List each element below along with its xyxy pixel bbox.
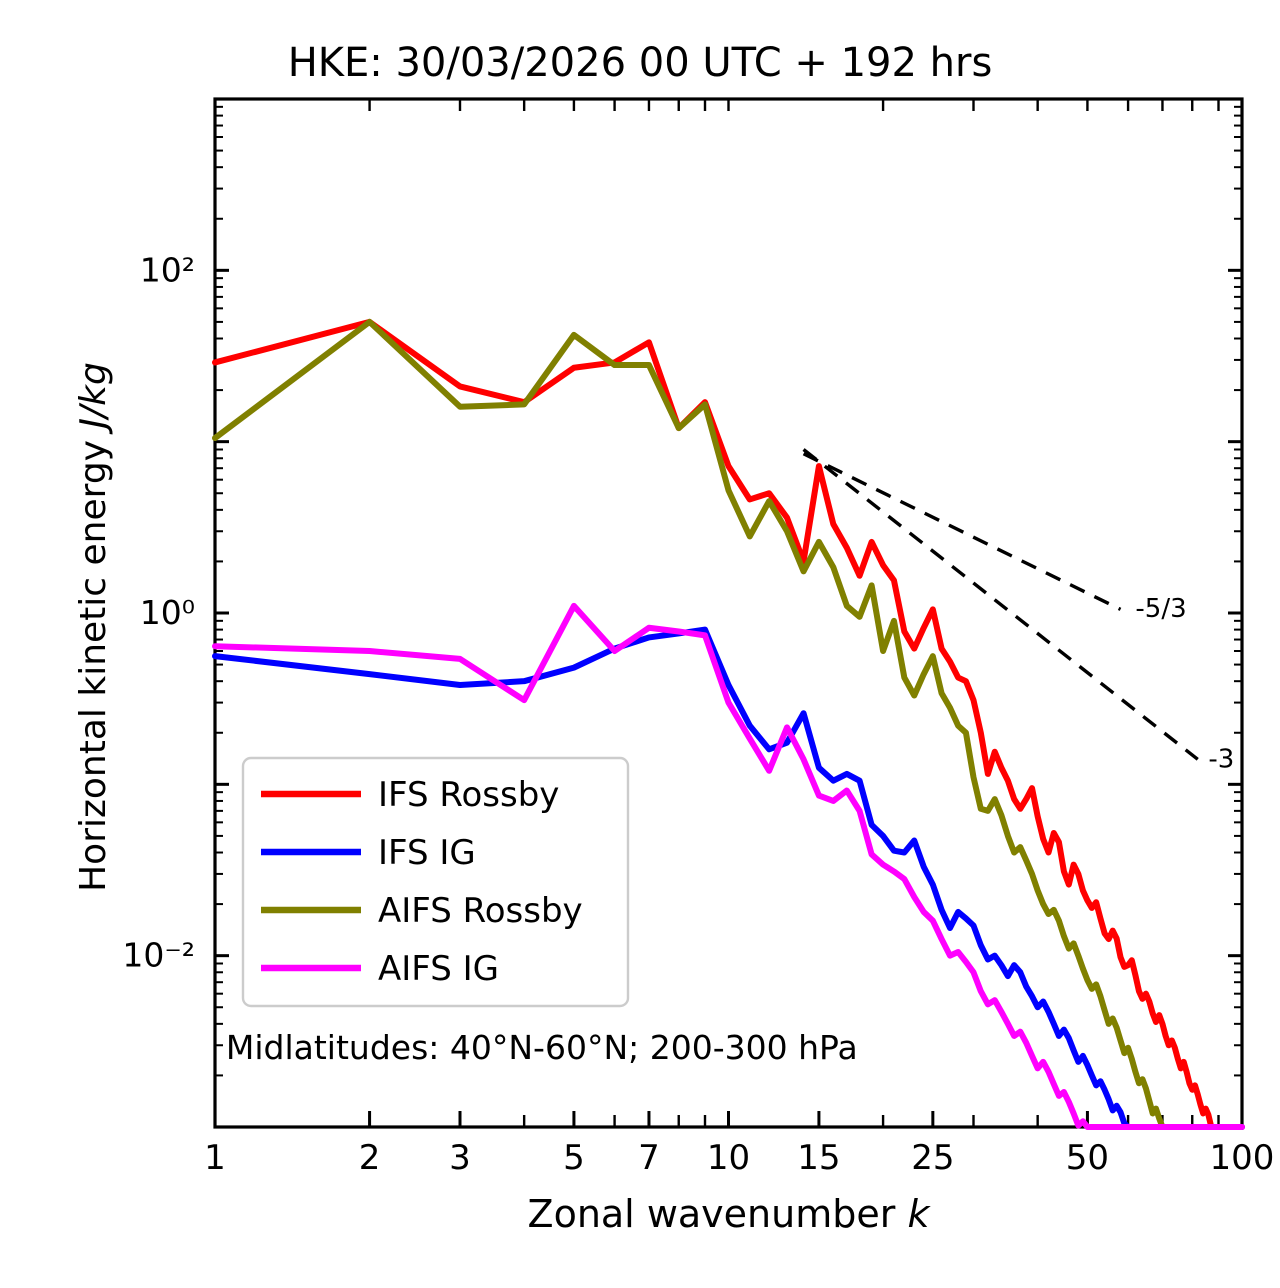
spectrum-chart: 10²10⁰10⁻² 1235710152550100 -5/3-3 Midla… bbox=[0, 0, 1280, 1288]
slope-annotations: -5/3-3 bbox=[1135, 594, 1234, 775]
x-tick-label: 25 bbox=[911, 1138, 954, 1178]
chart-legend[interactable]: IFS RossbyIFS IGAIFS RossbyAIFS IG bbox=[243, 758, 628, 1006]
slope-label-five-thirds: -5/3 bbox=[1135, 594, 1186, 624]
legend-label-ifs-ig: IFS IG bbox=[378, 833, 476, 873]
x-tick-label: 50 bbox=[1066, 1138, 1109, 1178]
legend-label-aifs-rossby: AIFS Rossby bbox=[378, 891, 583, 931]
x-tick-label: 5 bbox=[563, 1138, 585, 1178]
slope-label-three: -3 bbox=[1208, 745, 1234, 775]
x-tick-label: 10 bbox=[707, 1138, 750, 1178]
x-tick-label: 15 bbox=[797, 1138, 840, 1178]
y-tick-label: 10⁰ bbox=[140, 593, 195, 632]
region-annotation: Midlatitudes: 40°N-60°N; 200-300 hPa bbox=[226, 1028, 858, 1067]
legend-label-ifs-rossby: IFS Rossby bbox=[378, 775, 559, 815]
figure-canvas: HKE: 30/03/2026 00 UTC + 192 hrs Horizon… bbox=[0, 0, 1280, 1288]
x-tick-label: 1 bbox=[204, 1138, 226, 1178]
x-tick-label: 100 bbox=[1210, 1138, 1275, 1178]
x-tick-label: 7 bbox=[638, 1138, 660, 1178]
x-tick-label: 3 bbox=[449, 1138, 471, 1178]
region-annotation-text: Midlatitudes: 40°N-60°N; 200-300 hPa bbox=[226, 1028, 858, 1067]
y-tick-label: 10⁻² bbox=[122, 936, 195, 975]
y-tick-label: 10² bbox=[140, 250, 195, 289]
legend-label-aifs-ig: AIFS IG bbox=[378, 949, 499, 989]
x-tick-label: 2 bbox=[359, 1138, 381, 1178]
reference-line-53 bbox=[804, 454, 1121, 610]
